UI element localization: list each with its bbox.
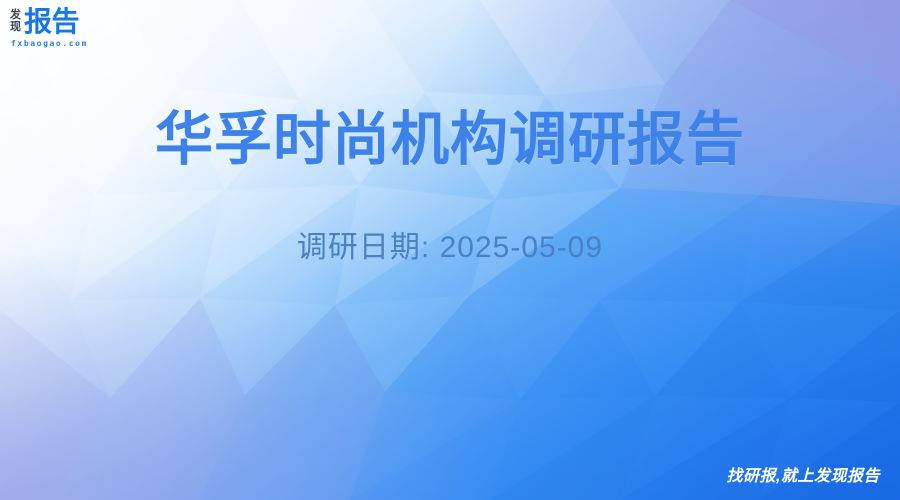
- logo-main-text: 报告: [24, 8, 79, 36]
- low-poly-background: [0, 0, 900, 500]
- report-cover-slide: 发 现 报告 fxbaogao.com 华孚时尚机构调研报告 调研日期: 202…: [0, 0, 900, 500]
- logo-char-xian: 现: [10, 22, 21, 34]
- footer-slogan: 找研报,就上发现报告: [727, 462, 880, 486]
- logo-stacked-characters: 发 现: [10, 10, 21, 34]
- logo-wordmark: 发 现 报告: [10, 8, 79, 36]
- logo-domain-text: fxbaogao.com: [11, 40, 88, 48]
- brand-logo[interactable]: 发 现 报告 fxbaogao.com: [10, 8, 88, 48]
